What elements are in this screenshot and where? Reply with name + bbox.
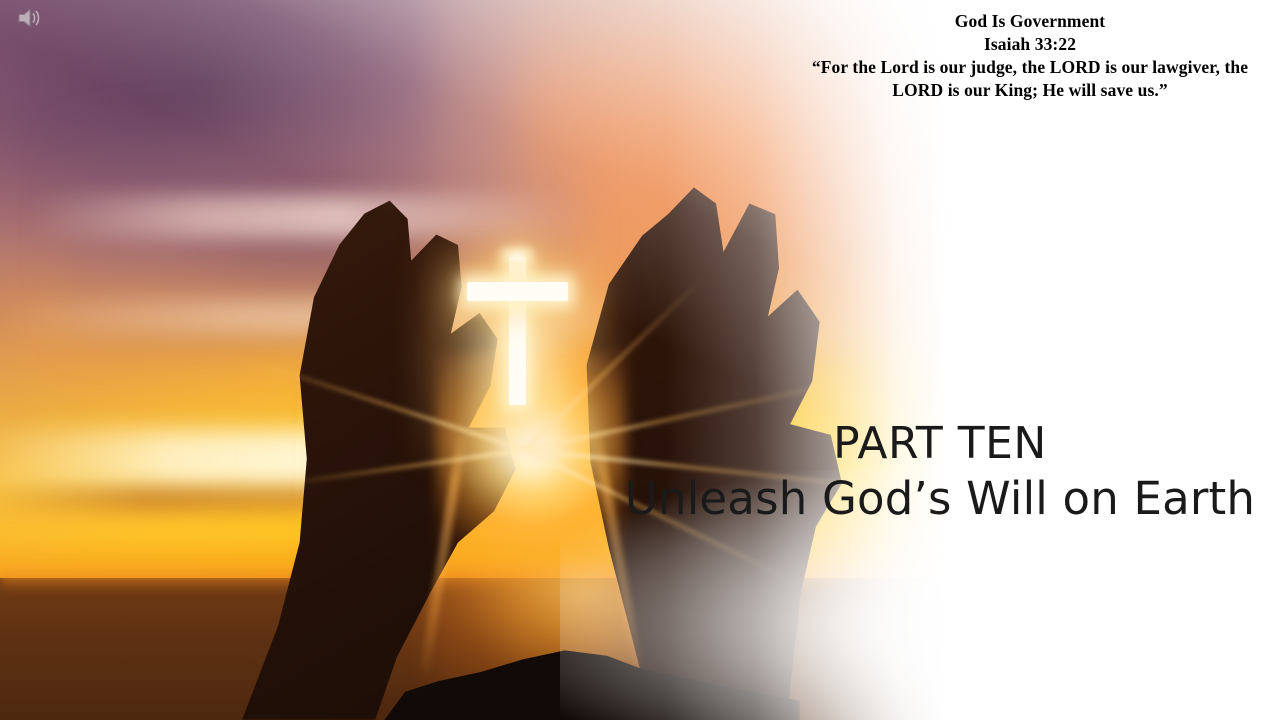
- scripture-quote-line-1: “For the Lord is our judge, the LORD is …: [780, 56, 1280, 79]
- scripture-reference: Isaiah 33:22: [780, 33, 1280, 56]
- presentation-slide: God Is Government Isaiah 33:22 “For the …: [0, 0, 1280, 720]
- page-title: Unleash God’s Will on Earth: [610, 470, 1270, 528]
- scripture-heading: God Is Government: [780, 10, 1280, 33]
- scripture-text-block: God Is Government Isaiah 33:22 “For the …: [780, 10, 1280, 102]
- speaker-icon[interactable]: [17, 7, 43, 29]
- scripture-quote-line-2: LORD is our King; He will save us.”: [780, 79, 1280, 102]
- part-label: PART TEN: [610, 418, 1270, 470]
- slide-title-block: PART TEN Unleash God’s Will on Earth: [610, 418, 1270, 528]
- background-photo: [0, 0, 1280, 720]
